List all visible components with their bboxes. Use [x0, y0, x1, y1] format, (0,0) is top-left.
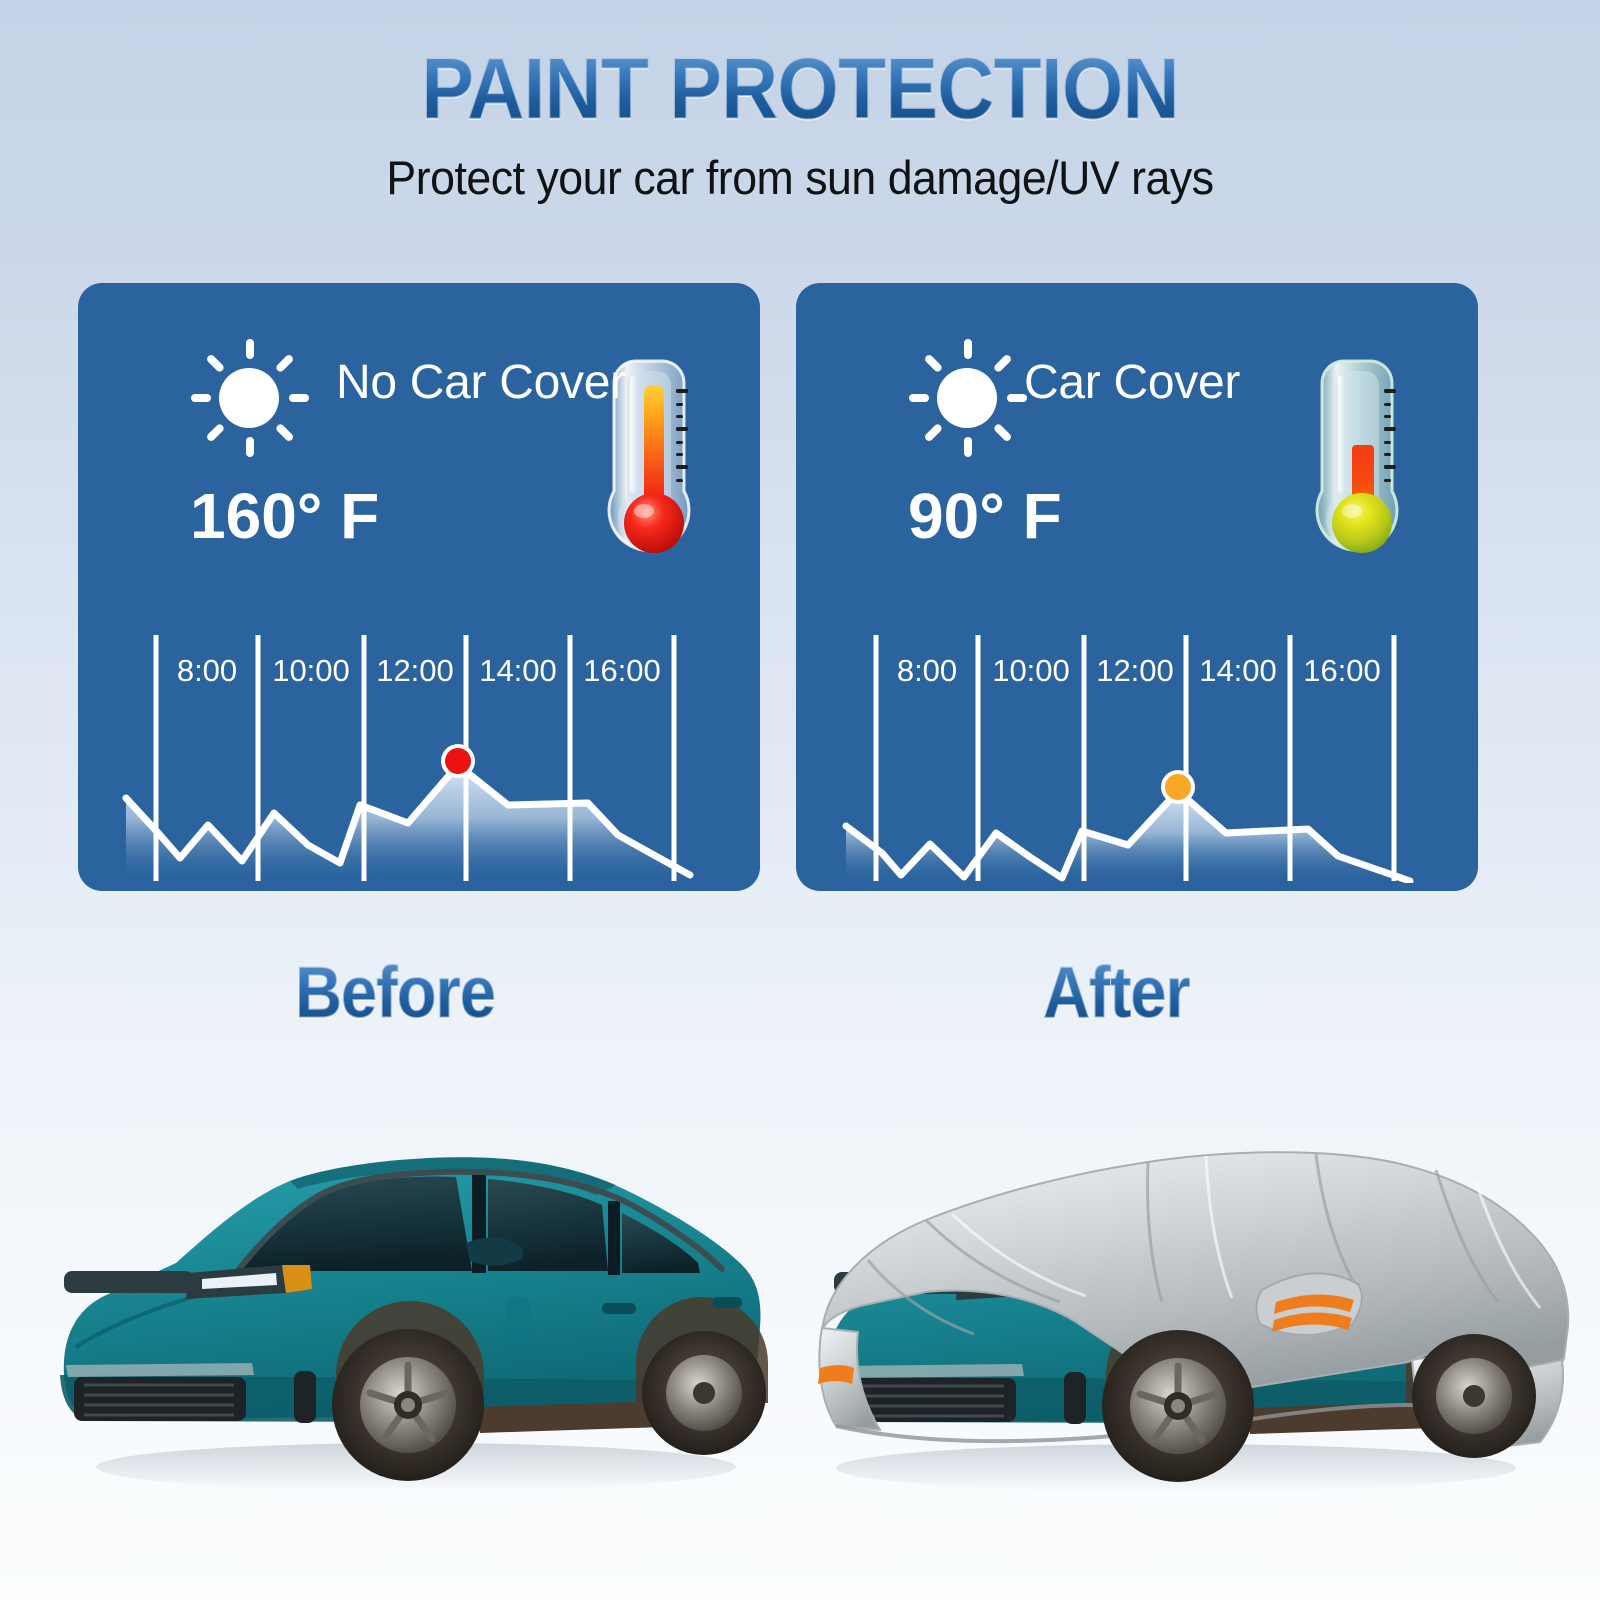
car-photo-covered: [776, 1070, 1576, 1500]
sun-ray: [289, 394, 309, 402]
sun-ray: [205, 353, 225, 373]
sun-ray: [923, 423, 943, 443]
car-photo-uncovered: [36, 1075, 776, 1495]
sun-ray: [992, 423, 1012, 443]
temperature-value-left: 160° F: [190, 479, 379, 553]
chart-tick-label: 8:00: [177, 653, 237, 688]
sun-ray: [274, 423, 294, 443]
temperature-chart-left: 8:00 10:00 12:00 14:00 16:00: [108, 613, 730, 883]
thermometer-cool-icon: [1302, 345, 1412, 575]
sun-disc: [937, 368, 997, 428]
sun-ray: [246, 339, 254, 359]
panel-car-cover: Car Cover 90° F: [796, 283, 1478, 891]
chart-tick-label: 14:00: [479, 653, 557, 688]
temperature-value-right: 90° F: [908, 479, 1062, 553]
label-after: After: [1043, 952, 1190, 1034]
temperature-chart-right: 8:00 10:00 12:00 14:00 16:00: [826, 613, 1448, 883]
sun-ray: [964, 339, 972, 359]
sun-ray: [909, 394, 929, 402]
sun-ray: [992, 353, 1012, 373]
sun-ray: [274, 353, 294, 373]
sun-disc: [219, 368, 279, 428]
sun-ray: [205, 423, 225, 443]
chart-tick-label: 16:00: [1303, 653, 1381, 688]
sun-ray: [191, 394, 211, 402]
sun-icon: [190, 339, 308, 457]
page-subtitle: Protect your car from sun damage/UV rays: [40, 150, 1560, 205]
sun-ray: [923, 353, 943, 373]
chart-tick-label: 12:00: [376, 653, 454, 688]
sun-icon: [908, 339, 1026, 457]
sun-ray: [964, 437, 972, 457]
panel-label-left: No Car Cover: [336, 355, 626, 410]
chart-tick-label: 10:00: [992, 653, 1070, 688]
sun-ray: [246, 437, 254, 457]
label-before: Before: [295, 952, 495, 1034]
panel-no-car-cover: No Car Cover 160° F: [78, 283, 760, 891]
chart-tick-label: 16:00: [583, 653, 661, 688]
page-title: PAINT PROTECTION: [64, 44, 1536, 134]
thermometer-hot-icon: [594, 345, 704, 575]
header: PAINT PROTECTION Protect your car from s…: [0, 0, 1600, 205]
panel-label-right: Car Cover: [1024, 355, 1240, 410]
chart-tick-label: 12:00: [1096, 653, 1174, 688]
chart-tick-label: 8:00: [897, 653, 957, 688]
chart-tick-label: 10:00: [272, 653, 350, 688]
chart-tick-label: 14:00: [1199, 653, 1277, 688]
